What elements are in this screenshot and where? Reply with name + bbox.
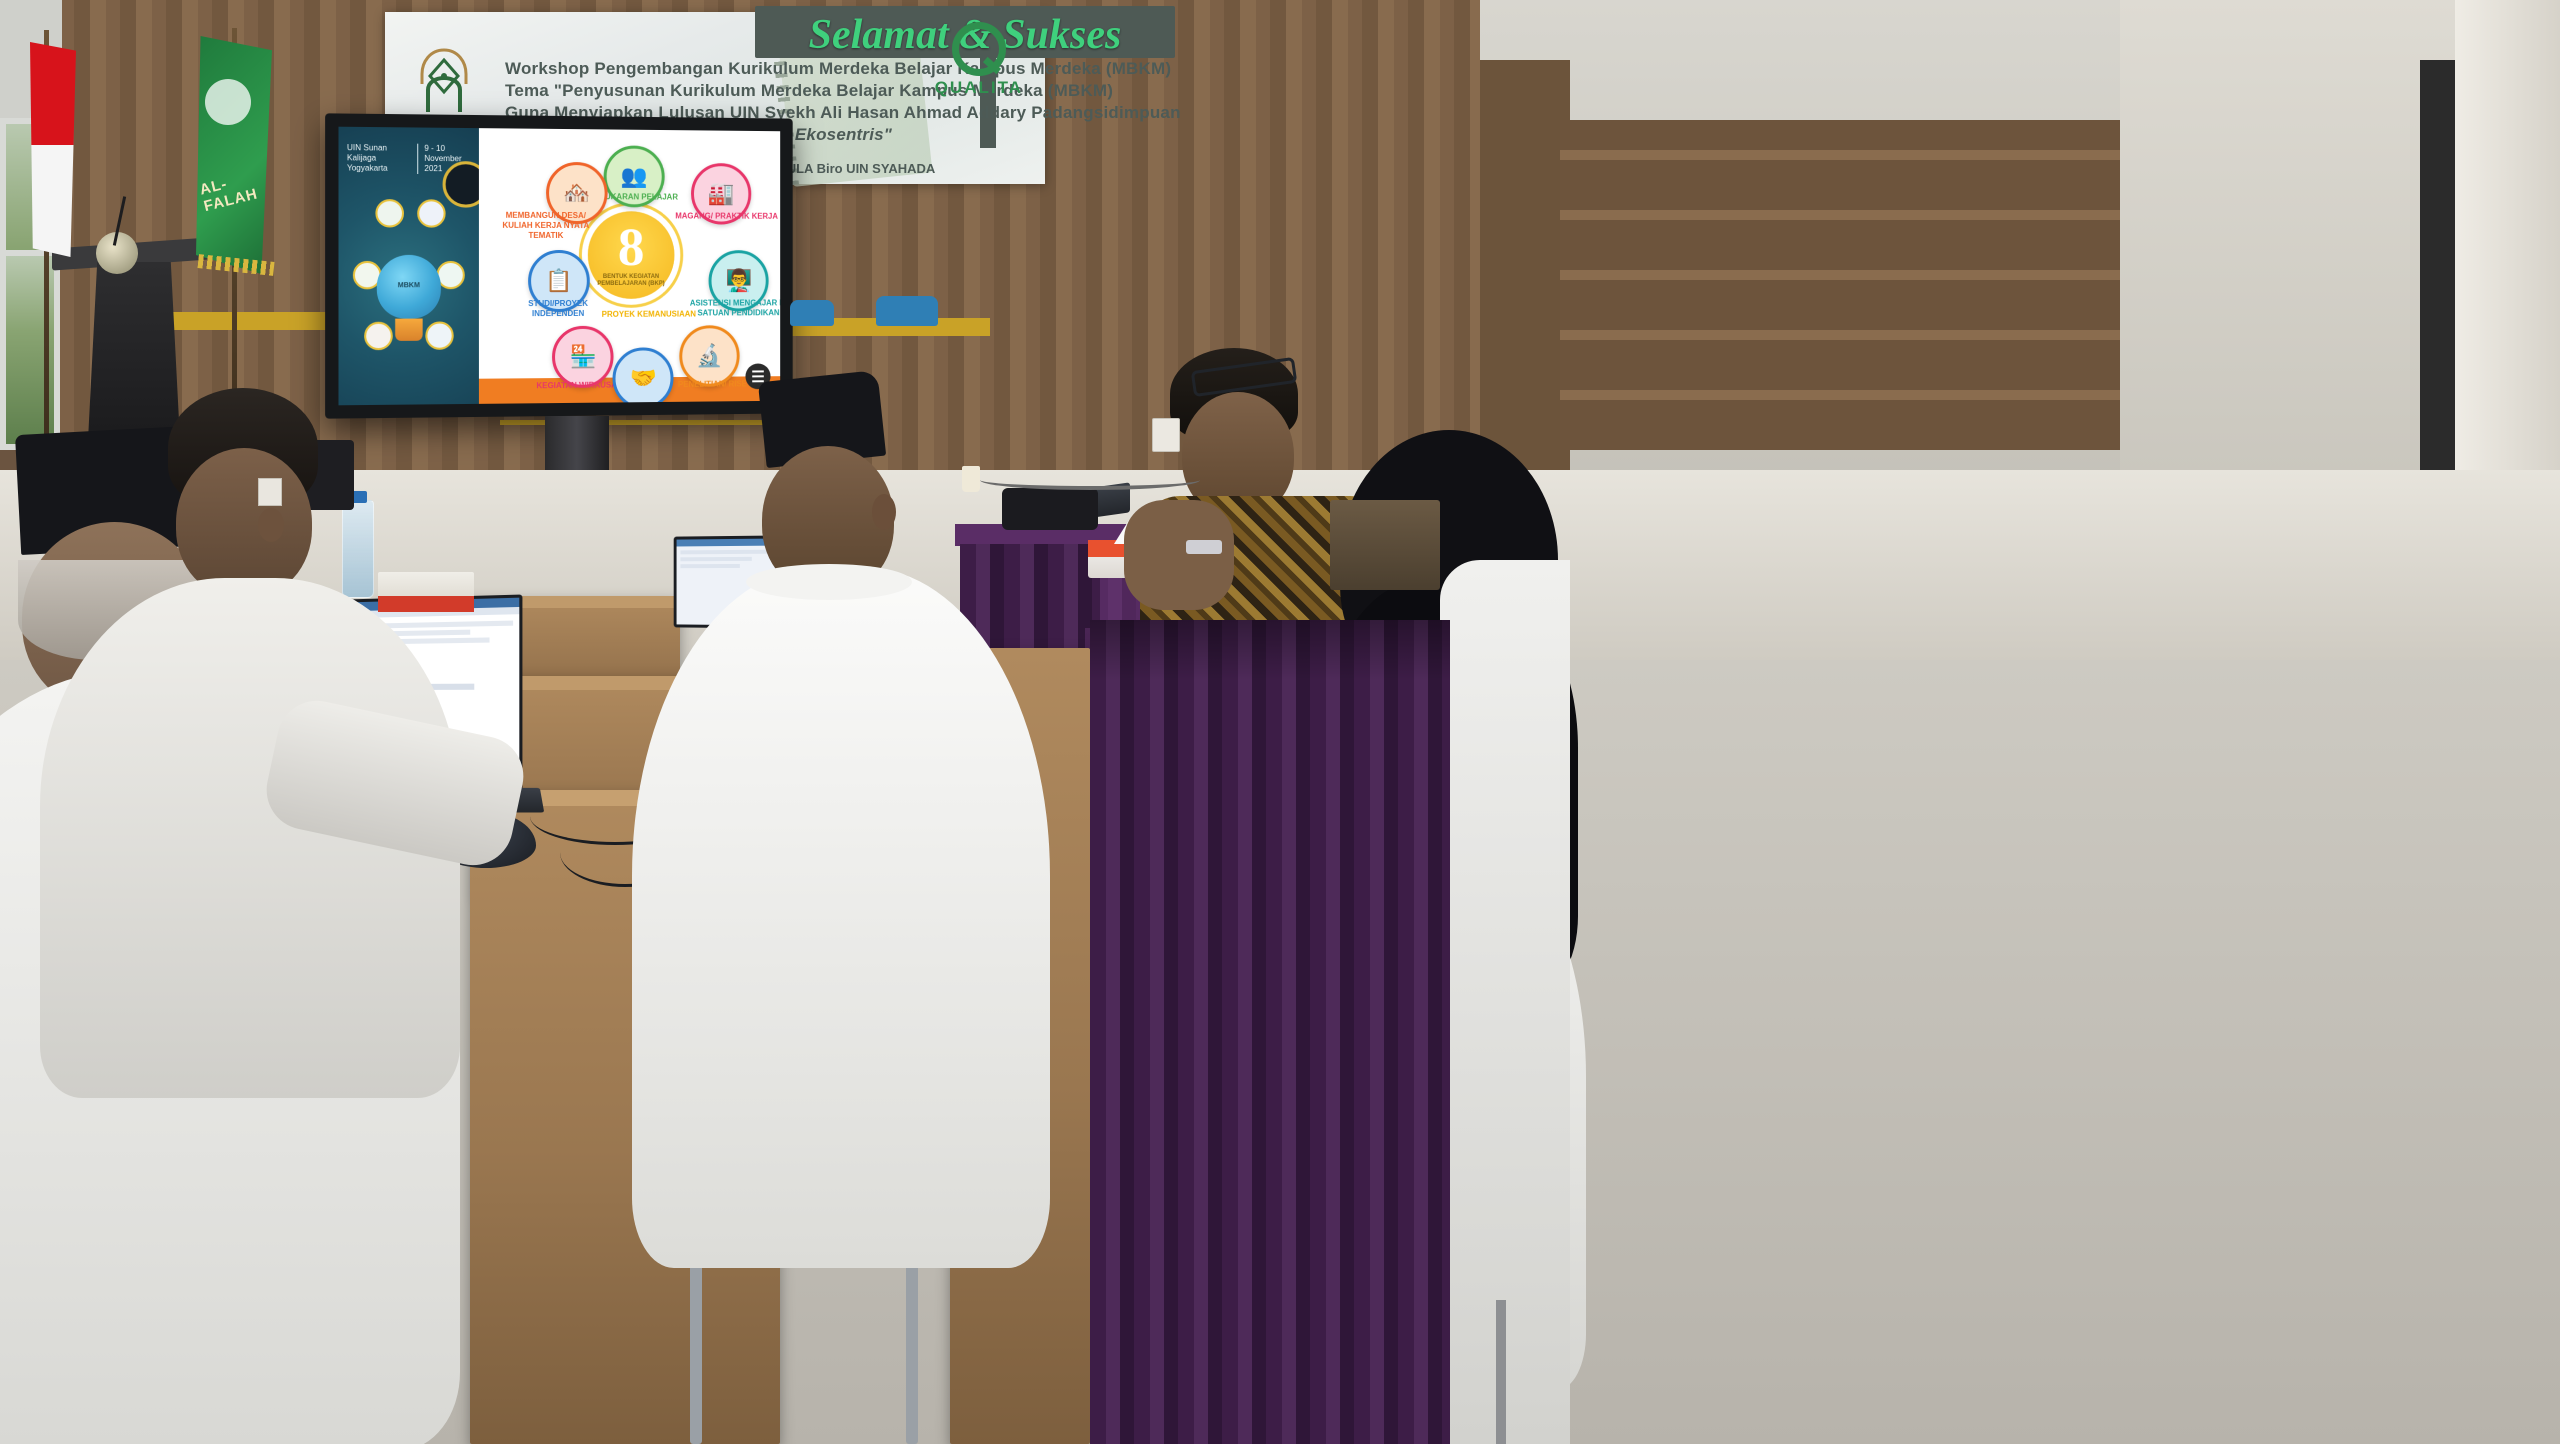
- wheel-label-2: MAGANG/ PRAKTIK KERJA: [673, 212, 780, 222]
- presentation-display: UIN Sunan Kalijaga Yogyakarta 9 - 10 Nov…: [325, 113, 793, 418]
- wall-right-dark-panel: [1480, 60, 1570, 480]
- wheel-label-8: MEMBANGUN DESA/ KULIAH KERJA NYATA TEMAT…: [491, 211, 601, 241]
- humanitarian-icon: 🤝: [630, 365, 657, 391]
- partner-badge-2: [417, 200, 445, 228]
- flag-organization: AL-FALAH: [196, 36, 272, 274]
- snack-box[interactable]: [378, 572, 474, 612]
- partner-badge-1: [375, 199, 404, 227]
- banner-venue: AULA Biro UIN SYAHADA: [777, 161, 935, 176]
- flag-indonesia: [30, 42, 76, 257]
- lightbulb-graphic: MBKM: [377, 255, 441, 341]
- microscope-icon: 🔬: [696, 343, 723, 369]
- lightbulb-label: MBKM: [377, 282, 441, 289]
- shop-icon: 🏪: [569, 344, 596, 370]
- lightbulb-glass: MBKM: [377, 255, 441, 319]
- slide-host-city: Yogyakarta: [347, 164, 411, 175]
- power-outlet[interactable]: [1152, 418, 1180, 452]
- wheel-node-6: 🤝: [613, 348, 674, 406]
- wall-right-opening: [2420, 60, 2460, 480]
- side-table-right: [1330, 500, 1440, 590]
- head-second-left: [176, 448, 312, 598]
- slide-left-panel: UIN Sunan Kalijaga Yogyakarta 9 - 10 Nov…: [338, 127, 478, 406]
- mbkm-wheel: 8 BENTUK KEGIATAN PEMBELAJARAN (BKP) 👥 P…: [479, 128, 781, 404]
- presentation-screen: UIN Sunan Kalijaga Yogyakarta 9 - 10 Nov…: [338, 127, 780, 406]
- sponsor-logo: QUALITA: [935, 22, 1023, 98]
- water-bottle-front[interactable]: [342, 500, 374, 598]
- wall-switch[interactable]: [258, 478, 282, 506]
- teacher-icon: 👨‍🏫: [726, 268, 753, 294]
- arm-speaker: [1124, 500, 1234, 610]
- stacked-chair-1: [790, 300, 834, 326]
- wall-lattice: [1560, 120, 2120, 450]
- wheel-node-4: 🔬: [679, 325, 739, 387]
- flag-emblem: [205, 79, 251, 125]
- wheel-node-5: 🏪: [552, 326, 613, 388]
- bag-on-head-table: [1002, 488, 1098, 530]
- wheel-center-caption: BENTUK KEGIATAN PEMBELAJARAN (BKP): [588, 274, 675, 288]
- qualita-ring-icon: [952, 22, 1006, 76]
- window-left-lower: [0, 250, 60, 450]
- lectern-body: [88, 262, 180, 440]
- collar-center: [746, 564, 912, 600]
- head-table-shadow: [1090, 620, 1450, 680]
- watch-speaker[interactable]: [1186, 540, 1222, 554]
- stacked-chair-2: [876, 296, 938, 326]
- floor-cable: [980, 470, 1200, 490]
- partner-badge-4: [437, 260, 465, 288]
- lightbulb-base: [395, 319, 422, 341]
- independent-study-icon: 📋: [545, 268, 572, 294]
- sponsor-name: QUALITA: [935, 78, 1023, 98]
- wheel-center: 8 BENTUK KEGIATAN PEMBELAJARAN (BKP): [588, 211, 675, 299]
- slide-host-name: UIN Sunan Kalijaga: [347, 143, 411, 164]
- head-table-front-skirt: [1090, 620, 1450, 1444]
- white-shirt-center: [632, 568, 1050, 1268]
- chair-leg-far-right: [1496, 1300, 1506, 1444]
- banner-line-2: Tema "Penyusunan Kurikulum Merdeka Belaj…: [505, 80, 925, 102]
- briefcase-icon: 🏭: [708, 181, 735, 207]
- village-icon: 🏘️: [563, 180, 590, 206]
- flag-text: AL-FALAH: [197, 165, 275, 215]
- wheel-label-7: STUDI/PROYEK INDEPENDEN: [503, 299, 612, 319]
- ear-center: [872, 494, 896, 530]
- wheel-center-number: 8: [618, 223, 645, 274]
- banner-line-1: Workshop Pengembangan Kurikulum Merdeka …: [505, 58, 925, 80]
- snack-box-lid: [378, 596, 474, 612]
- ear-second-left: [258, 508, 284, 542]
- room-photo: Selamat & Sukses Workshop Pengembangan K…: [0, 0, 2560, 1444]
- cup-on-floor: [962, 466, 980, 492]
- uin-logo-icon: [413, 46, 475, 116]
- students-exchange-icon: 👥: [621, 164, 648, 190]
